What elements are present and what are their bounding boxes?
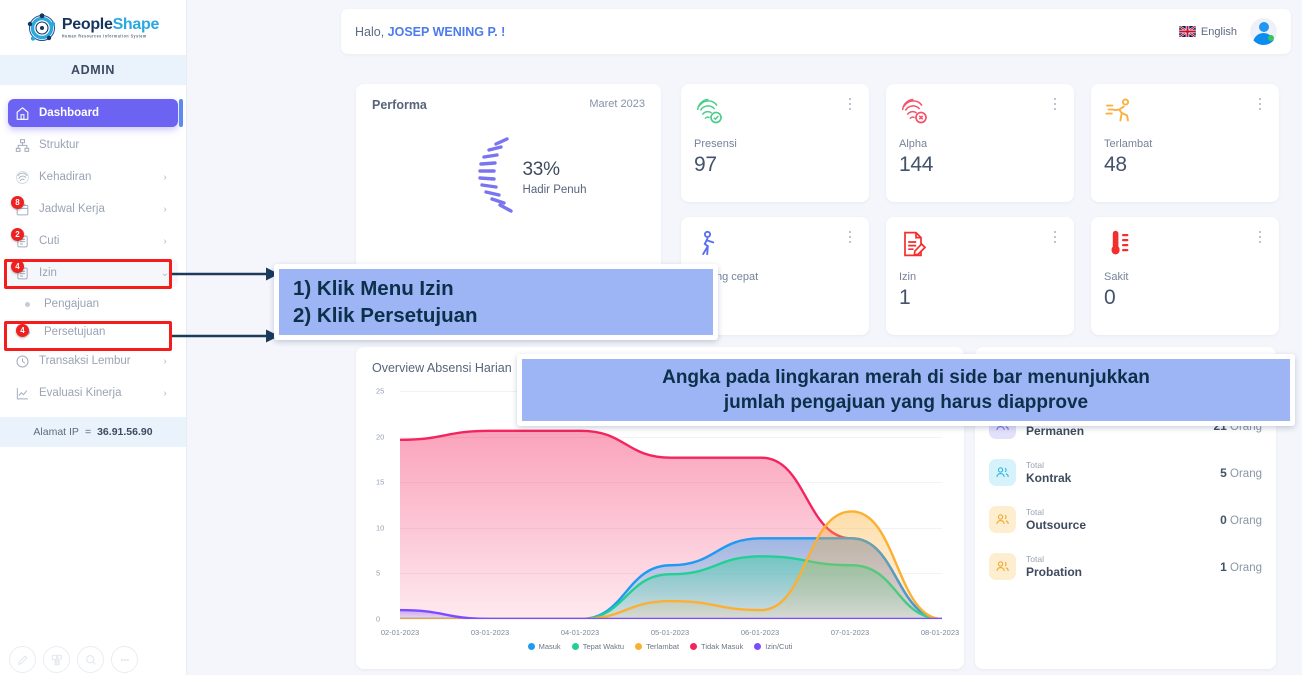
card-menu-icon[interactable] — [1254, 229, 1266, 245]
total-kicker: Total — [1026, 554, 1220, 564]
y-axis-tick: 5 — [376, 569, 380, 578]
notification-badge: 8 — [11, 196, 24, 209]
sidebar-item-cuti[interactable]: 2 Cuti › — [8, 227, 178, 255]
org-chart-icon — [14, 137, 31, 154]
callout-steps: 1) Klik Menu Izin 2) Klik Persetujuan — [274, 264, 718, 340]
legend-swatch — [754, 643, 761, 650]
sidebar-item-label: Kehadiran — [39, 171, 160, 183]
total-count: 5 Orang — [1220, 466, 1262, 480]
document-icon: 2 — [14, 233, 31, 250]
legend-label: Masuk — [539, 642, 561, 651]
x-axis-tick: 04-01-2023 — [561, 628, 599, 637]
topbar-actions: English — [1179, 18, 1277, 45]
stat-label: Sakit — [1104, 271, 1266, 283]
chart-plot-area: 0510152025 02-01-202303-01-202304-01-202… — [372, 391, 948, 641]
brand-logo[interactable]: PeopleShape Human Resources Information … — [0, 0, 186, 55]
total-count: 1 Orang — [1220, 560, 1262, 574]
chevron-right-icon: › — [160, 388, 170, 399]
greeting-prefix: Halo, — [355, 25, 388, 39]
performa-title: Performa — [372, 98, 427, 112]
search-icon[interactable] — [77, 646, 104, 673]
sidebar-menu: Dashboard Struktur Kehadiran › — [0, 85, 186, 407]
callout-badge-explanation: Angka pada lingkaran merah di side bar m… — [517, 354, 1295, 426]
callout-badge-line2: jumlah pengajuan yang harus diapprove — [536, 390, 1276, 415]
sidebar-item-struktur[interactable]: Struktur — [8, 131, 178, 159]
stat-card-terlambat: Terlambat 48 — [1091, 84, 1279, 202]
total-count: 0 Orang — [1220, 513, 1262, 527]
legend-swatch — [528, 643, 535, 650]
logo-tagline: Human Resources Information System — [62, 35, 159, 39]
legend-item[interactable]: Tidak Masuk — [690, 642, 743, 651]
clock-icon — [14, 353, 31, 370]
fingerprint-icon — [14, 169, 31, 186]
x-axis-tick: 07-01-2023 — [831, 628, 869, 637]
sidebar-item-jadwal-kerja[interactable]: 8 Jadwal Kerja › — [8, 195, 178, 223]
performa-card: Performa Maret 2023 — [356, 84, 661, 276]
uk-flag-icon — [1179, 26, 1196, 37]
greeting-text: Halo, JOSEP WENING P. ! — [355, 25, 505, 39]
legend-item[interactable]: Izin/Cuti — [754, 642, 792, 651]
stat-card-presensi: Presensi 97 — [681, 84, 869, 202]
fingerprint-x-icon — [899, 96, 929, 126]
bullet-dot-icon — [22, 302, 36, 307]
sidebar-item-label: Dashboard — [39, 107, 170, 119]
active-indicator — [179, 99, 183, 127]
sidebar-item-transaksi-lembur[interactable]: Transaksi Lembur › — [8, 347, 178, 375]
y-axis-tick: 25 — [376, 387, 384, 396]
running-person-icon — [1104, 96, 1134, 126]
stat-label: Alpha — [899, 138, 1061, 150]
stat-card-sakit: Sakit 0 — [1091, 217, 1279, 335]
language-selector[interactable]: English — [1179, 26, 1237, 38]
legend-label: Izin/Cuti — [765, 642, 792, 651]
total-name: Probation — [1026, 565, 1220, 579]
highlight-box-izin — [4, 259, 172, 289]
peopleshape-logo-icon — [27, 13, 57, 43]
legend-swatch — [635, 643, 642, 650]
annotation-arrow-persetujuan — [172, 324, 280, 348]
total-row: TotalOutsource0 Orang — [989, 496, 1262, 543]
pencil-icon[interactable] — [9, 646, 36, 673]
thermometer-icon — [1104, 229, 1134, 259]
x-axis-tick: 02-01-2023 — [381, 628, 419, 637]
performa-sublabel: Hadir Penuh — [523, 184, 587, 196]
y-axis-tick: 10 — [376, 523, 384, 532]
y-axis-tick: 15 — [376, 478, 384, 487]
stat-label: Izin — [899, 271, 1061, 283]
calendar-icon: 8 — [14, 201, 31, 218]
performa-percent: 33% — [523, 159, 587, 181]
user-name: JOSEP WENING P. ! — [388, 25, 506, 39]
stat-label: Pulang cepat — [694, 271, 856, 283]
chart-line-icon — [14, 385, 31, 402]
home-icon — [14, 105, 31, 122]
total-name: Kontrak — [1026, 471, 1220, 485]
chevron-right-icon: › — [160, 236, 170, 247]
stat-value: 71 — [694, 286, 856, 310]
sidebar-subitem-pengajuan[interactable]: Pengajuan — [8, 291, 178, 317]
x-axis-tick: 05-01-2023 — [651, 628, 689, 637]
chart-legend: MasukTepat WaktuTerlambatTidak MasukIzin… — [372, 642, 948, 651]
stat-value: 1 — [899, 286, 1061, 310]
sidebar-footer-toolbar — [0, 646, 187, 673]
ip-label: Alamat IP — [33, 426, 79, 438]
legend-label: Tepat Waktu — [583, 642, 624, 651]
performa-period: Maret 2023 — [589, 98, 645, 110]
legend-item[interactable]: Tepat Waktu — [572, 642, 624, 651]
ip-address-bar: Alamat IP = 36.91.56.90 — [0, 417, 186, 447]
apps-grid-icon[interactable] — [43, 646, 70, 673]
logo-name-part2: Shape — [113, 16, 160, 33]
stat-value: 97 — [694, 153, 856, 177]
chevron-right-icon: › — [160, 204, 170, 215]
legend-swatch — [690, 643, 697, 650]
sidebar-item-label: Jadwal Kerja — [39, 203, 160, 215]
total-row: TotalKontrak5 Orang — [989, 449, 1262, 496]
legend-item[interactable]: Terlambat — [635, 642, 679, 651]
callout-steps-line1: 1) Klik Menu Izin — [293, 275, 699, 302]
total-name: Permanen — [1026, 424, 1213, 438]
performa-gauge — [449, 132, 521, 222]
callout-steps-line2: 2) Klik Persetujuan — [293, 302, 699, 329]
sidebar-item-dashboard[interactable]: Dashboard — [8, 99, 178, 127]
stat-value: 144 — [899, 153, 1061, 177]
notification-badge: 2 — [11, 228, 24, 241]
stat-label: Presensi — [694, 138, 856, 150]
stat-label: Terlambat — [1104, 138, 1266, 150]
stat-value: 0 — [1104, 286, 1266, 310]
total-row: TotalProbation1 Orang — [989, 543, 1262, 590]
document-pen-icon — [899, 229, 929, 259]
x-axis-tick: 03-01-2023 — [471, 628, 509, 637]
sidebar-item-label: Evaluasi Kinerja — [39, 387, 160, 399]
legend-swatch — [572, 643, 579, 650]
y-axis-tick: 0 — [376, 615, 380, 624]
more-dots-icon[interactable] — [111, 646, 138, 673]
sidebar-subitem-label: Pengajuan — [44, 298, 99, 310]
users-icon — [989, 459, 1016, 486]
role-banner: ADMIN — [0, 55, 186, 85]
stat-value: 48 — [1104, 153, 1266, 177]
ip-value: 36.91.56.90 — [97, 426, 152, 438]
fingerprint-check-icon — [694, 96, 724, 126]
card-menu-icon[interactable] — [1254, 96, 1266, 112]
card-menu-icon[interactable] — [844, 96, 856, 112]
total-kicker: Total — [1026, 507, 1220, 517]
y-axis-tick: 20 — [376, 432, 384, 441]
sidebar-item-label: Transaksi Lembur — [39, 355, 160, 367]
legend-label: Terlambat — [646, 642, 679, 651]
ip-separator: = — [85, 426, 91, 438]
stat-card-izin: Izin 1 — [886, 217, 1074, 335]
walking-person-icon — [694, 229, 724, 259]
highlight-box-persetujuan — [4, 321, 172, 351]
logo-name-part1: People — [62, 16, 113, 33]
card-menu-icon[interactable] — [1049, 229, 1061, 245]
gridline — [400, 619, 942, 620]
sidebar-item-evaluasi-kinerja[interactable]: Evaluasi Kinerja › — [8, 379, 178, 407]
online-status-dot — [1268, 35, 1274, 41]
role-label: ADMIN — [71, 63, 115, 77]
sidebar-item-label: Cuti — [39, 235, 160, 247]
x-axis-tick: 06-01-2023 — [741, 628, 779, 637]
chevron-right-icon: › — [160, 356, 170, 367]
topbar: Halo, JOSEP WENING P. ! English — [341, 9, 1291, 54]
avatar-head — [1259, 22, 1269, 32]
sidebar-item-kehadiran[interactable]: Kehadiran › — [8, 163, 178, 191]
total-kicker: Total — [1026, 460, 1220, 470]
legend-item[interactable]: Masuk — [528, 642, 561, 651]
chevron-right-icon: › — [160, 172, 170, 183]
x-axis-tick: 08-01-2023 — [921, 628, 959, 637]
users-icon — [989, 553, 1016, 580]
stat-card-alpha: Alpha 144 — [886, 84, 1074, 202]
users-icon — [989, 506, 1016, 533]
annotation-arrow-izin — [172, 262, 280, 286]
legend-label: Tidak Masuk — [701, 642, 743, 651]
card-menu-icon[interactable] — [844, 229, 856, 245]
user-avatar-icon[interactable] — [1250, 18, 1277, 45]
sidebar-item-label: Struktur — [39, 139, 170, 151]
language-label: English — [1201, 26, 1237, 38]
dashboard-page: PeopleShape Human Resources Information … — [0, 0, 1302, 675]
callout-badge-line1: Angka pada lingkaran merah di side bar m… — [536, 365, 1276, 390]
total-name: Outsource — [1026, 518, 1220, 532]
card-menu-icon[interactable] — [1049, 96, 1061, 112]
